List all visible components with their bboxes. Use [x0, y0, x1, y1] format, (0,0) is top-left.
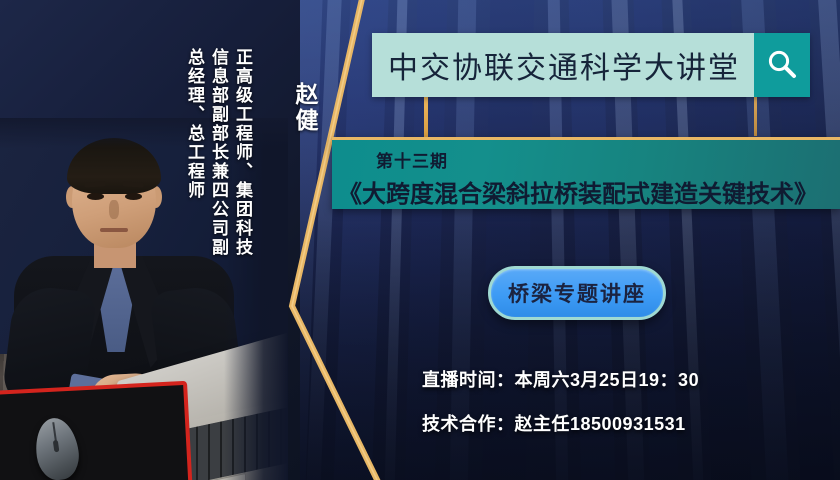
search-button[interactable] [754, 33, 810, 97]
eye-right [125, 193, 142, 200]
gold-chevron-divider [272, 0, 382, 480]
episode-band: 第十三期 《大跨度混合梁斜拉桥装配式建造关键技术》 [332, 137, 840, 209]
nose [109, 200, 119, 219]
episode-number: 第十三期 [376, 147, 840, 172]
contact-text: 技术合作：赵主任18500931531 [422, 410, 686, 436]
episode-topic: 《大跨度混合梁斜拉桥装配式建造关键技术》 [338, 174, 840, 209]
program-title-banner: 中交协联交通科学大讲堂 [372, 33, 810, 97]
speaker-title-line-3: 总经理、总工程师 [182, 48, 207, 200]
live-time-text: 直播时间：本周六3月25日19：30 [422, 366, 699, 392]
speaker-title-line-2: 信息部副部长兼四公司副 [206, 48, 231, 257]
speaker-name: 赵健 [288, 82, 322, 134]
speaker-title-line-1: 正高级工程师、集团科技 [230, 48, 255, 257]
banner-post-right [754, 96, 757, 136]
program-title: 中交协联交通科学大讲堂 [372, 43, 754, 87]
banner-post-left [424, 96, 428, 140]
topic-tag-label: 桥梁专题讲座 [508, 278, 646, 308]
mouth [100, 228, 128, 232]
mousepad [0, 381, 193, 480]
eye-left [87, 193, 104, 200]
search-icon [765, 48, 799, 82]
live-stream-poster: 总经理、总工程师 信息部副部长兼四公司副 正高级工程师、集团科技 赵健 中交协联… [0, 0, 840, 480]
topic-tag-button[interactable]: 桥梁专题讲座 [488, 266, 666, 320]
